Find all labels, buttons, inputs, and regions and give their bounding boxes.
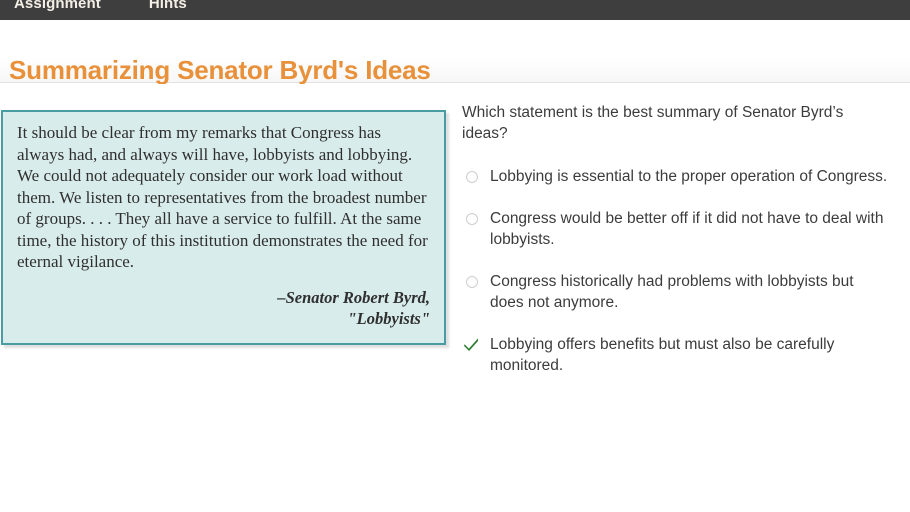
answer-option-2[interactable]: Congress would be better off if it did n…: [462, 208, 894, 251]
radio-unselected-icon[interactable]: [462, 166, 488, 187]
quiz-page: Assignment Hints Summarizing Senator Byr…: [0, 0, 910, 512]
answer-option-4-label: Lobbying offers benefits but must also b…: [488, 334, 890, 377]
answer-option-2-label: Congress would be better off if it did n…: [488, 208, 890, 251]
quotation-box: It should be clear from my remarks that …: [1, 110, 446, 345]
title-band: Summarizing Senator Byrd's Ideas: [0, 20, 910, 83]
question-prompt: Which statement is the best summary of S…: [462, 102, 862, 144]
check-icon: [462, 334, 488, 355]
main-content: It should be clear from my remarks that …: [0, 84, 910, 512]
question-answer-column: Which statement is the best summary of S…: [462, 102, 894, 397]
radio-unselected-icon[interactable]: [462, 271, 488, 292]
answer-option-4[interactable]: Lobbying offers benefits but must also b…: [462, 334, 894, 377]
nav-item-assignment[interactable]: Assignment: [14, 0, 101, 12]
top-navigation-bar: Assignment Hints: [0, 0, 910, 20]
answer-option-1[interactable]: Lobbying is essential to the proper oper…: [462, 166, 894, 188]
answer-option-3[interactable]: Congress historically had problems with …: [462, 271, 894, 314]
quotation-attribution: –Senator Robert Byrd, "Lobbyists": [17, 287, 430, 329]
radio-unselected-icon[interactable]: [462, 208, 488, 229]
nav-item-hints[interactable]: Hints: [149, 0, 187, 12]
answer-option-3-label: Congress historically had problems with …: [488, 271, 890, 314]
answer-option-1-label: Lobbying is essential to the proper oper…: [488, 166, 887, 188]
page-title: Summarizing Senator Byrd's Ideas: [9, 55, 431, 86]
quotation-text: It should be clear from my remarks that …: [17, 122, 430, 273]
